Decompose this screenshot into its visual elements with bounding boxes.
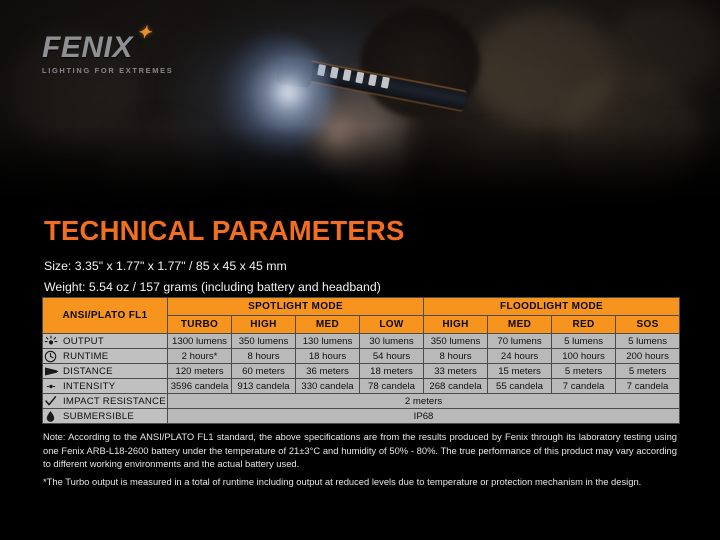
row-label-text: DISTANCE — [63, 366, 113, 377]
cell-runtime-spotlight-high: 8 hours — [232, 349, 296, 364]
cell-distance-floodlight-sos: 5 meters — [616, 364, 680, 379]
cell-runtime-floodlight-med: 24 hours — [488, 349, 552, 364]
row-label-text: INTENSITY — [63, 381, 115, 392]
cell-intensity-spotlight-med: 330 candela — [296, 379, 360, 394]
row-label-text: RUNTIME — [63, 351, 108, 362]
table-row: RUNTIME 2 hours* 8 hours 18 hours 54 hou… — [43, 349, 680, 364]
row-label-text: SUBMERSIBLE — [63, 411, 134, 422]
cell-output-floodlight-sos: 5 lumens — [616, 334, 680, 349]
light-burst-icon — [43, 335, 58, 348]
cell-runtime-spotlight-low: 54 hours — [360, 349, 424, 364]
cell-runtime-floodlight-sos: 200 hours — [616, 349, 680, 364]
row-label-runtime: RUNTIME — [43, 349, 168, 364]
row-label-distance: DISTANCE — [43, 364, 168, 379]
technical-parameters-table: ANSI/PLATO FL1 SPOTLIGHT MODE FLOODLIGHT… — [42, 297, 680, 424]
cell-intensity-floodlight-sos: 7 candela — [616, 379, 680, 394]
table-row: INTENSITY 3596 candela 913 candela 330 c… — [43, 379, 680, 394]
row-label-text: IMPACT RESISTANCE — [63, 396, 166, 407]
mode-header-floodlight-red: RED — [552, 316, 616, 334]
cell-output-floodlight-high: 350 lumens — [424, 334, 488, 349]
mode-header-floodlight-med: MED — [488, 316, 552, 334]
fenix-logo: FENIX ✦ LIGHTING FOR EXTREMES — [42, 33, 173, 75]
weight-spec: Weight: 5.54 oz / 157 grams (including b… — [44, 278, 405, 297]
mode-header-spotlight-high: HIGH — [232, 316, 296, 334]
cell-output-spotlight-med: 130 lumens — [296, 334, 360, 349]
row-label-text: OUTPUT — [63, 336, 104, 347]
cell-distance-floodlight-red: 5 meters — [552, 364, 616, 379]
point-source-icon — [43, 380, 58, 393]
row-label-intensity: INTENSITY — [43, 379, 168, 394]
photo-fade-to-black — [0, 126, 720, 218]
mode-header-spotlight-med: MED — [296, 316, 360, 334]
size-spec: Size: 3.35" x 1.77" x 1.77" / 85 x 45 x … — [44, 257, 405, 276]
table-corner-label: ANSI/PLATO FL1 — [43, 298, 168, 334]
impact-check-icon — [43, 395, 58, 408]
cell-intensity-floodlight-red: 7 candela — [552, 379, 616, 394]
cell-runtime-floodlight-high: 8 hours — [424, 349, 488, 364]
mode-header-floodlight-sos: SOS — [616, 316, 680, 334]
logo-text: FENIX — [42, 31, 133, 64]
table-row: DISTANCE 120 meters 60 meters 36 meters … — [43, 364, 680, 379]
cell-distance-spotlight-high: 60 meters — [232, 364, 296, 379]
cell-runtime-spotlight-med: 18 hours — [296, 349, 360, 364]
mode-header-spotlight-low: LOW — [360, 316, 424, 334]
footnotes: Note: According to the ANSI/PLATO FL1 st… — [43, 430, 677, 489]
cell-output-floodlight-red: 5 lumens — [552, 334, 616, 349]
cell-intensity-floodlight-high: 268 candela — [424, 379, 488, 394]
cell-intensity-spotlight-turbo: 3596 candela — [168, 379, 232, 394]
cell-intensity-spotlight-low: 78 candela — [360, 379, 424, 394]
water-drop-icon — [43, 410, 58, 423]
table-row: OUTPUT 1300 lumens 350 lumens 130 lumens… — [43, 334, 680, 349]
cell-distance-spotlight-turbo: 120 meters — [168, 364, 232, 379]
cell-distance-floodlight-high: 33 meters — [424, 364, 488, 379]
cell-output-floodlight-med: 70 lumens — [488, 334, 552, 349]
group-header-spotlight: SPOTLIGHT MODE — [168, 298, 424, 316]
row-label-output: OUTPUT — [43, 334, 168, 349]
table-row: SUBMERSIBLE IP68 — [43, 409, 680, 424]
mode-header-spotlight-turbo: TURBO — [168, 316, 232, 334]
table-header-row-group: ANSI/PLATO FL1 SPOTLIGHT MODE FLOODLIGHT… — [43, 298, 680, 316]
logo-tagline: LIGHTING FOR EXTREMES — [42, 66, 173, 75]
title-block: TECHNICAL PARAMETERS Size: 3.35" x 1.77"… — [44, 216, 405, 297]
cell-submersible-value: IP68 — [168, 409, 680, 424]
star-icon: ✦ — [137, 24, 152, 41]
beam-cone-icon — [43, 365, 58, 378]
mode-header-floodlight-high: HIGH — [424, 316, 488, 334]
cell-runtime-floodlight-red: 100 hours — [552, 349, 616, 364]
cell-impact-resistance-value: 2 meters — [168, 394, 680, 409]
cell-runtime-spotlight-turbo: 2 hours* — [168, 349, 232, 364]
cell-distance-spotlight-med: 36 meters — [296, 364, 360, 379]
cell-intensity-floodlight-med: 55 candela — [488, 379, 552, 394]
cell-output-spotlight-low: 30 lumens — [360, 334, 424, 349]
table-row: IMPACT RESISTANCE 2 meters — [43, 394, 680, 409]
cell-output-spotlight-high: 350 lumens — [232, 334, 296, 349]
group-header-floodlight: FLOODLIGHT MODE — [424, 298, 680, 316]
cell-distance-floodlight-med: 15 meters — [488, 364, 552, 379]
page-title: TECHNICAL PARAMETERS — [44, 216, 405, 245]
cell-output-spotlight-turbo: 1300 lumens — [168, 334, 232, 349]
row-label-impact-resistance: IMPACT RESISTANCE — [43, 394, 168, 409]
note-main: Note: According to the ANSI/PLATO FL1 st… — [43, 430, 677, 471]
row-label-submersible: SUBMERSIBLE — [43, 409, 168, 424]
note-turbo: *The Turbo output is measured in a total… — [43, 475, 677, 489]
logo-wordmark: FENIX ✦ — [42, 33, 173, 63]
cell-distance-spotlight-low: 18 meters — [360, 364, 424, 379]
cell-intensity-spotlight-high: 913 candela — [232, 379, 296, 394]
clock-icon — [43, 350, 58, 363]
